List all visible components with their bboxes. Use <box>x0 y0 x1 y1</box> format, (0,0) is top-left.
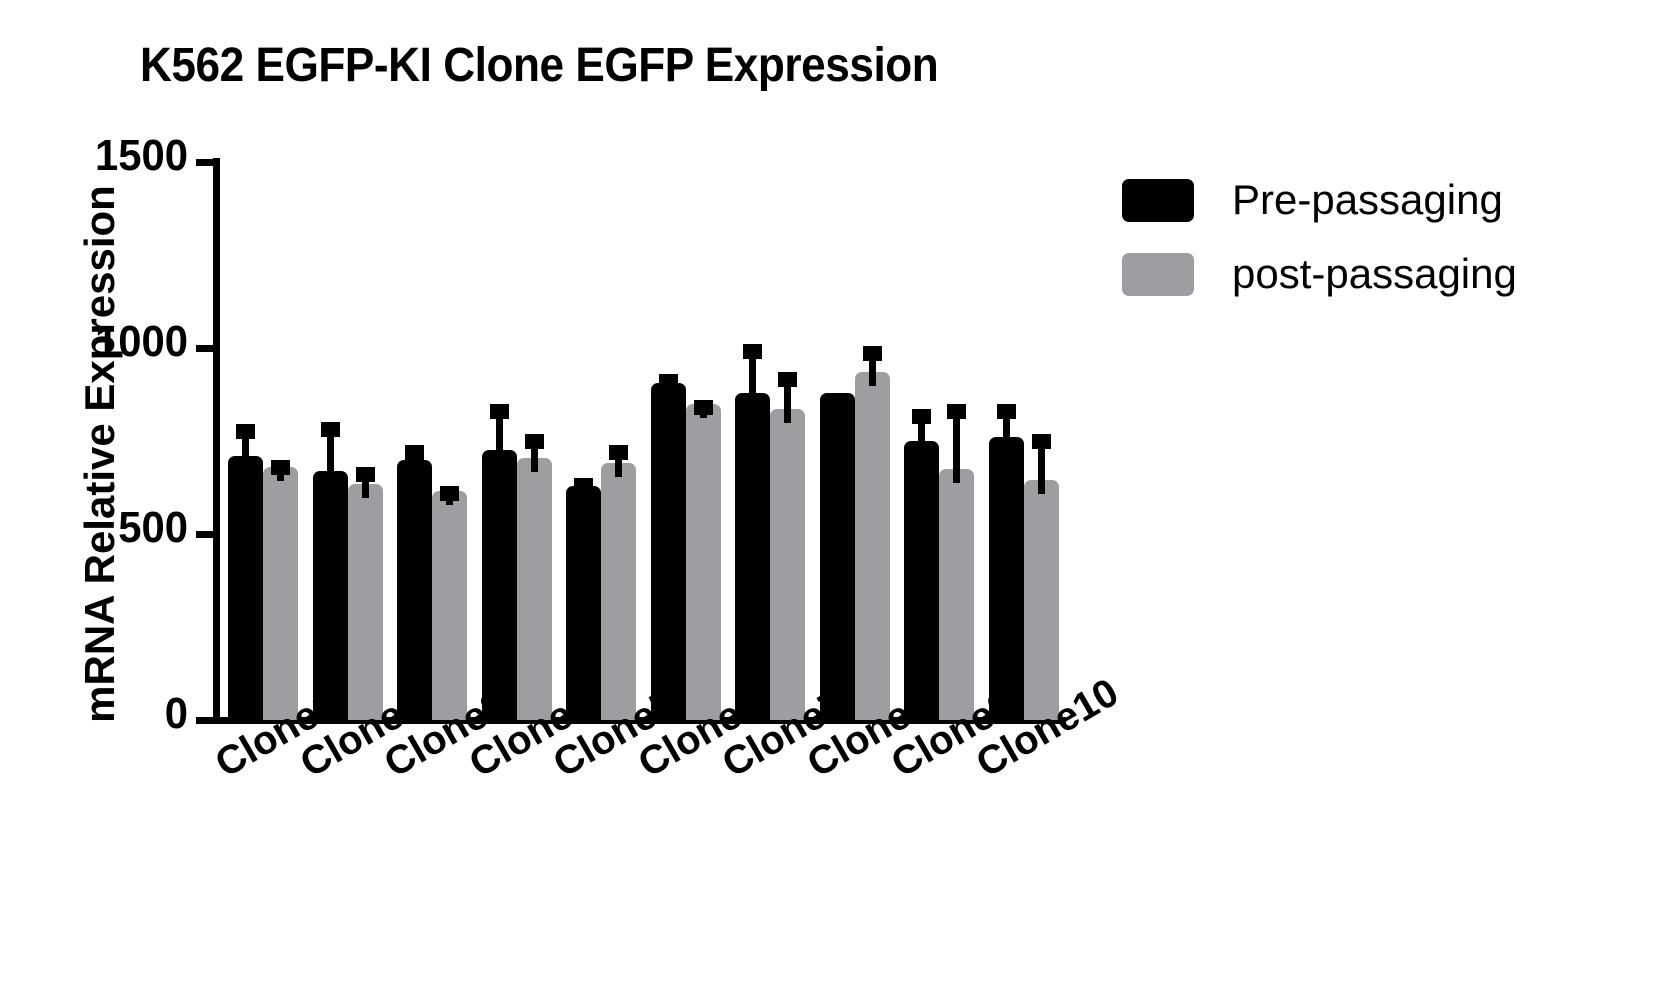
bar-clone1-post <box>263 467 298 720</box>
bar-clone4-pre <box>482 450 517 720</box>
legend-swatch-pre-passaging <box>1122 179 1194 222</box>
bar-clone4-post <box>517 458 552 720</box>
error-cap-clone1-pre <box>236 424 255 439</box>
error-cap-clone7-post <box>778 372 797 387</box>
bar-clone2-pre <box>313 471 348 720</box>
bar-clone7-pre <box>735 393 770 720</box>
bar-clone3-pre <box>397 460 432 720</box>
error-cap-clone10-post <box>1032 434 1051 449</box>
bar-clone8-pre <box>820 393 855 720</box>
bar-clone7-post <box>770 409 805 720</box>
bar-clone5-post <box>601 463 636 720</box>
bar-clone6-pre <box>651 383 686 720</box>
error-cap-clone5-post <box>609 445 628 460</box>
error-cap-clone3-post <box>440 486 459 501</box>
error-cap-clone2-pre <box>321 422 340 437</box>
legend-item-pre-passaging: Pre-passaging <box>1122 163 1517 237</box>
error-cap-clone1-post <box>271 460 290 475</box>
bar-clone8-post <box>855 372 890 720</box>
bar-clone2-post <box>348 484 383 720</box>
error-cap-clone6-pre <box>659 374 678 389</box>
chart-legend: Pre-passagingpost-passaging <box>1122 163 1517 311</box>
error-cap-clone3-pre <box>405 445 424 460</box>
legend-swatch-post-passaging <box>1122 253 1194 296</box>
bar-clone6-post <box>686 404 721 720</box>
legend-item-post-passaging: post-passaging <box>1122 237 1517 311</box>
error-cap-clone9-pre <box>912 409 931 424</box>
error-cap-clone6-post <box>694 400 713 415</box>
error-cap-clone2-post <box>356 467 375 482</box>
bar-clone10-post <box>1024 480 1059 720</box>
bar-clone9-post <box>939 469 974 720</box>
error-cap-clone7-pre <box>743 344 762 359</box>
error-cap-clone5-pre <box>574 478 593 493</box>
error-cap-clone4-pre <box>490 404 509 419</box>
plot-area: 050010001500 mRNA Relative Expression Cl… <box>0 0 1671 1000</box>
bar-clone1-pre <box>228 456 263 720</box>
bar-clone9-pre <box>904 441 939 720</box>
bar-clone10-pre <box>989 437 1024 720</box>
chart-figure: K562 EGFP-KI Clone EGFP Expression 05001… <box>0 0 1671 1000</box>
error-cap-clone8-post <box>863 346 882 361</box>
legend-label-pre-passaging: Pre-passaging <box>1232 176 1503 224</box>
legend-label-post-passaging: post-passaging <box>1232 250 1517 298</box>
error-cap-clone10-pre <box>997 404 1016 419</box>
error-cap-clone4-post <box>525 434 544 449</box>
error-cap-clone9-post <box>947 404 966 419</box>
bar-clone3-post <box>432 491 467 720</box>
bars-layer <box>0 0 1671 720</box>
